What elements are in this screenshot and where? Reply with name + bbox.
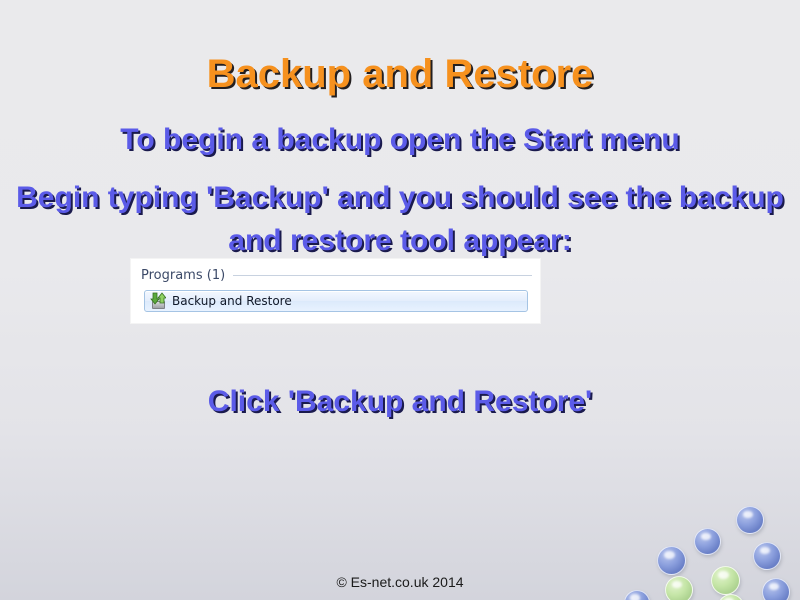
backup-and-restore-icon	[150, 293, 166, 309]
call-to-action-text: Click 'Backup and Restore'	[0, 385, 800, 419]
instruction-line-2: Begin typing 'Backup' and you should see…	[0, 177, 800, 262]
decorative-sphere	[736, 506, 764, 534]
decorative-sphere	[624, 590, 650, 600]
copyright-footer: © Es-net.co.uk 2014	[0, 574, 800, 590]
page-title: Backup and Restore	[0, 52, 800, 97]
decorative-sphere	[753, 542, 781, 570]
start-menu-search-screenshot: Programs (1) Backup and Restore	[131, 259, 540, 323]
decorative-sphere	[694, 528, 721, 555]
instruction-line-1: To begin a backup open the Start menu	[0, 123, 800, 157]
group-header-label: Programs (1)	[141, 268, 233, 283]
search-result-label: Backup and Restore	[172, 294, 292, 308]
search-results-group-header: Programs (1)	[141, 265, 532, 285]
search-result-backup-and-restore[interactable]: Backup and Restore	[144, 290, 528, 312]
slide-canvas: Backup and Restore To begin a backup ope…	[0, 0, 800, 600]
decorative-sphere	[718, 594, 744, 600]
group-header-divider	[233, 275, 532, 276]
decorative-sphere	[657, 546, 686, 575]
